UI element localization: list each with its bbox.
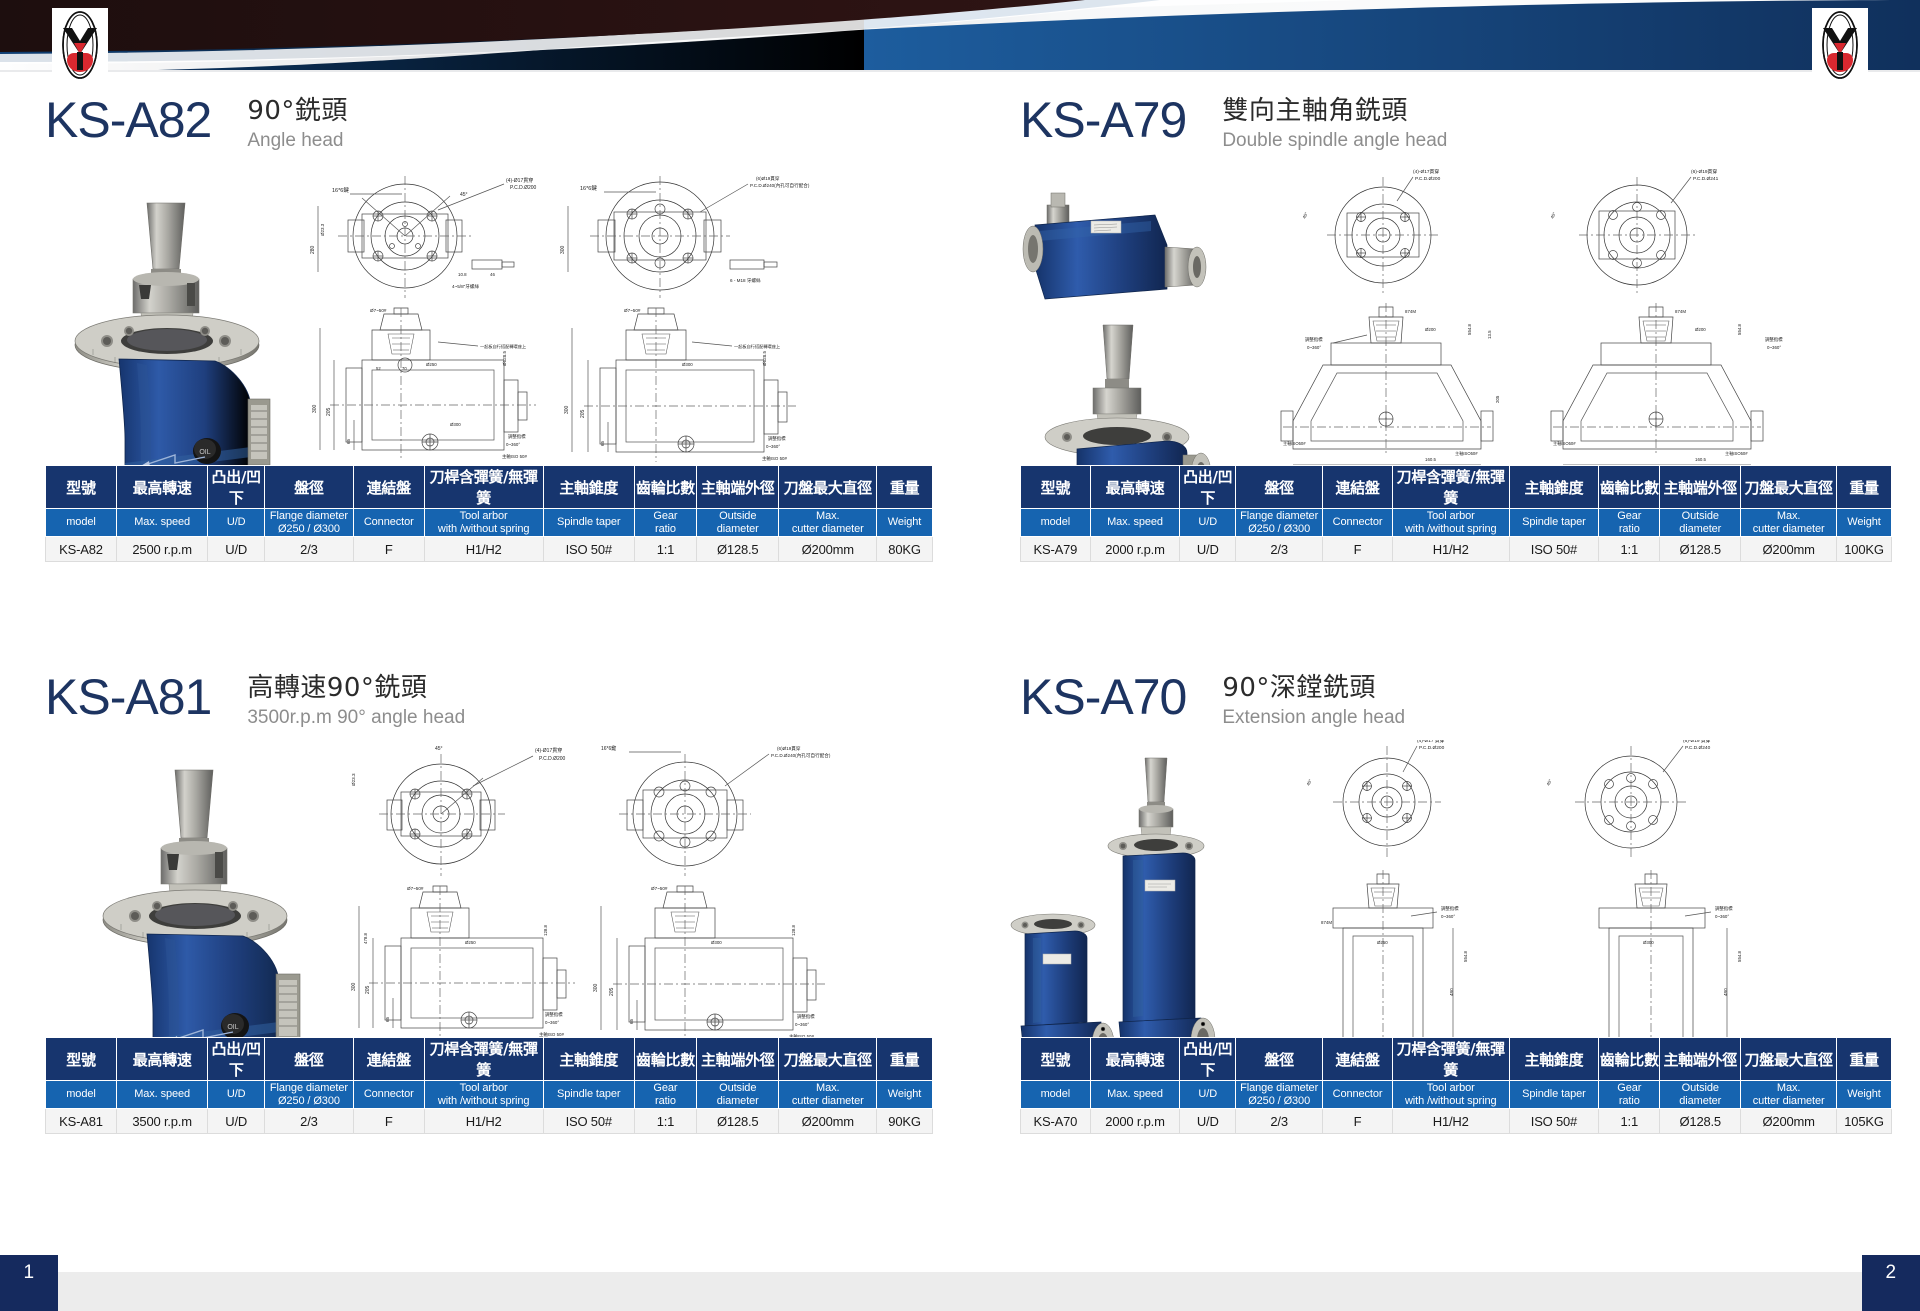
- svg-text:Ø128.5: Ø128.5: [502, 350, 507, 366]
- svg-text:(4)-Ø17貫穿: (4)-Ø17貫穿: [506, 177, 533, 184]
- cell-ud: U/D: [1180, 1109, 1236, 1134]
- table-row: KS-A82 2500 r.p.m U/D 2/3 F H1/H2 ISO 50…: [46, 537, 933, 562]
- th-zh-tool-arbor: 刀桿含彈簧/無彈簧: [1392, 1038, 1509, 1081]
- cell-outside-diameter: Ø128.5: [1660, 537, 1741, 562]
- svg-text:(4)-Ø17貫穿: (4)-Ø17貫穿: [1413, 168, 1439, 175]
- product-name-en: Extension angle head: [1222, 706, 1405, 730]
- svg-text:主軸ISO50#: 主軸ISO50#: [1725, 450, 1748, 457]
- cell-flange-diameter: 2/3: [265, 1109, 354, 1134]
- svg-text:65: 65: [600, 440, 605, 446]
- th-en-flange-diameter: Flange diameterØ250 / Ø300: [1236, 509, 1323, 537]
- svg-text:主軸ISO 50#: 主軸ISO 50#: [502, 453, 527, 460]
- svg-text:554.8: 554.8: [1737, 950, 1742, 962]
- svg-text:0~360°: 0~360°: [1715, 914, 1729, 919]
- dimension-drawing: (4)-Ø17貫穿 P.C.D.Ø200 45°: [1245, 163, 1900, 513]
- th-en-connector: Connector: [353, 1081, 424, 1109]
- svg-text:205: 205: [609, 987, 615, 996]
- svg-text:554.8: 554.8: [1463, 950, 1468, 962]
- svg-text:160.5: 160.5: [1425, 457, 1437, 462]
- svg-text:Ø300: Ø300: [682, 362, 693, 367]
- svg-text:205: 205: [580, 409, 586, 418]
- svg-text:16*6鍵: 16*6鍵: [601, 745, 616, 752]
- svg-text:主軸ISO 50#: 主軸ISO 50#: [762, 455, 787, 462]
- svg-text:45°: 45°: [1305, 778, 1313, 786]
- cell-gear-ratio: 1:1: [1599, 537, 1660, 562]
- specification-table: 型號 最高轉速 凸出/凹下 盤徑 連結盤 刀桿含彈簧/無彈簧 主軸錐度 齒輪比數…: [1020, 465, 1892, 562]
- th-zh-max-cutter-diameter: 刀盤最大直徑: [779, 466, 877, 509]
- svg-text:(6)Ø19貫穿: (6)Ø19貫穿: [756, 175, 780, 182]
- svg-text:13.5: 13.5: [1487, 330, 1492, 339]
- svg-text:主軸ISO50#: 主軸ISO50#: [1283, 440, 1306, 447]
- cell-tool-arbor: H1/H2: [1392, 537, 1509, 562]
- th-en-model: model: [1021, 1081, 1091, 1109]
- th-en-outside-diameter: Outsidediameter: [1660, 509, 1741, 537]
- product-model: KS-A82: [45, 95, 211, 145]
- th-en-ud: U/D: [208, 509, 265, 537]
- th-en-outside-diameter: Outsidediameter: [1660, 1081, 1741, 1109]
- th-zh-flange-diameter: 盤徑: [265, 1038, 354, 1081]
- th-zh-gear-ratio: 齒輪比數: [1599, 1038, 1660, 1081]
- th-en-tool-arbor: Tool arborwith /without spring: [424, 509, 543, 537]
- cell-max-cutter-diameter: Ø200mm: [1741, 1109, 1837, 1134]
- svg-text:調整指標: 調整指標: [797, 1013, 815, 1020]
- svg-text:280: 280: [310, 245, 316, 254]
- svg-text:45°: 45°: [460, 192, 468, 198]
- svg-text:65: 65: [385, 1016, 390, 1022]
- cell-spindle-taper: ISO 50#: [1509, 1109, 1599, 1134]
- cell-tool-arbor: H1/H2: [424, 537, 543, 562]
- angle-head-photo: OIL: [55, 173, 285, 503]
- svg-text:300: 300: [593, 983, 599, 992]
- th-zh-gear-ratio: 齒輪比數: [634, 1038, 696, 1081]
- th-en-connector: Connector: [1323, 1081, 1393, 1109]
- svg-text:874M: 874M: [1405, 309, 1416, 314]
- th-zh-spindle-taper: 主軸錐度: [1509, 466, 1599, 509]
- th-en-spindle-taper: Spindle taper: [543, 509, 634, 537]
- svg-text:主軸ISO50#: 主軸ISO50#: [1553, 440, 1576, 447]
- th-en-max-cutter-diameter: Max.cutter diameter: [1741, 509, 1837, 537]
- th-zh-max-speed: 最高轉速: [116, 466, 207, 509]
- svg-text:Ø300: Ø300: [1643, 940, 1654, 945]
- svg-text:0~360°: 0~360°: [1441, 914, 1455, 919]
- svg-text:Ø128.5: Ø128.5: [762, 350, 767, 366]
- table-header-en: model Max. speed U/D Flange diameterØ250…: [46, 509, 933, 537]
- th-zh-outside-diameter: 主軸端外徑: [697, 466, 779, 509]
- svg-text:Ø250: Ø250: [1377, 940, 1388, 945]
- svg-text:Ø7~50#: Ø7~50#: [407, 886, 424, 891]
- svg-text:(4)-Ø17貫穿: (4)-Ø17貫穿: [535, 747, 562, 754]
- cell-spindle-taper: ISO 50#: [543, 1109, 634, 1134]
- cell-outside-diameter: Ø128.5: [697, 537, 779, 562]
- cell-tool-arbor: H1/H2: [424, 1109, 543, 1134]
- svg-text:205: 205: [1495, 395, 1500, 403]
- product-name-en: Angle head: [247, 129, 348, 153]
- cell-max-cutter-diameter: Ø200mm: [779, 1109, 877, 1134]
- th-zh-max-speed: 最高轉速: [1090, 466, 1180, 509]
- svg-text:Ø7~50#: Ø7~50#: [651, 886, 668, 891]
- company-logo-right: [1812, 8, 1868, 82]
- svg-text:6 - M18 牙螺絲: 6 - M18 牙螺絲: [730, 277, 761, 284]
- svg-text:45°: 45°: [435, 746, 443, 752]
- svg-text:128.8: 128.8: [791, 924, 796, 936]
- svg-text:0~360°: 0~360°: [1307, 345, 1321, 350]
- svg-text:45°: 45°: [1549, 211, 1557, 219]
- th-zh-connector: 連結盤: [353, 466, 424, 509]
- svg-text:65: 65: [346, 438, 351, 444]
- cell-model: KS-A82: [46, 537, 117, 562]
- svg-text:P.C.D.Ø240(內孔可自行配合): P.C.D.Ø240(內孔可自行配合): [750, 182, 810, 189]
- footer-band: [0, 1272, 1920, 1311]
- technical-drawing-ks-a79: (4)-Ø17貫穿 P.C.D.Ø200 45°: [1245, 163, 1900, 513]
- product-model: KS-A81: [45, 672, 211, 722]
- th-en-max-speed: Max. speed: [116, 509, 207, 537]
- th-zh-gear-ratio: 齒輪比數: [1599, 466, 1660, 509]
- svg-text:205: 205: [365, 985, 371, 994]
- th-en-max-speed: Max. speed: [1090, 509, 1180, 537]
- th-zh-spindle-taper: 主軸錐度: [543, 1038, 634, 1081]
- svg-text:300: 300: [312, 404, 318, 413]
- cell-spindle-taper: ISO 50#: [1509, 537, 1599, 562]
- product-name-zh: 雙向主軸角銑頭: [1222, 97, 1447, 127]
- spec-table-ks-a79: 型號 最高轉速 凸出/凹下 盤徑 連結盤 刀桿含彈簧/無彈簧 主軸錐度 齒輪比數…: [1020, 465, 1892, 562]
- svg-text:(6)-Ø19貫穿: (6)-Ø19貫穿: [1691, 168, 1717, 175]
- svg-text:874M: 874M: [1675, 309, 1686, 314]
- svg-text:Ø23.3: Ø23.3: [351, 773, 356, 786]
- product-photo-ks-a70: [1005, 740, 1235, 1085]
- table-header-en: model Max. speed U/D Flange diameterØ250…: [1021, 509, 1892, 537]
- svg-text:P.C.D.Ø240(內孔可自行配合): P.C.D.Ø240(內孔可自行配合): [771, 752, 831, 759]
- svg-text:205: 205: [326, 407, 332, 416]
- product-photo-ks-a81: OIL: [85, 748, 315, 1078]
- table-row: KS-A70 2000 r.p.m U/D 2/3 F H1/H2 ISO 50…: [1021, 1109, 1892, 1134]
- th-en-gear-ratio: Gearratio: [634, 1081, 696, 1109]
- th-en-max-cutter-diameter: Max.cutter diameter: [779, 509, 877, 537]
- th-zh-max-cutter-diameter: 刀盤最大直徑: [1741, 1038, 1837, 1081]
- th-zh-model: 型號: [46, 466, 117, 509]
- th-en-gear-ratio: Gearratio: [1599, 509, 1660, 537]
- th-en-tool-arbor: Tool arborwith /without spring: [424, 1081, 543, 1109]
- product-names: 90°銑頭 Angle head: [247, 95, 348, 153]
- svg-text:0~360°: 0~360°: [766, 444, 780, 449]
- cell-gear-ratio: 1:1: [634, 1109, 696, 1134]
- th-en-gear-ratio: Gearratio: [1599, 1081, 1660, 1109]
- th-en-model: model: [46, 1081, 117, 1109]
- product-name-zh: 90°銑頭: [247, 97, 348, 127]
- th-en-spindle-taper: Spindle taper: [543, 1081, 634, 1109]
- page-number-left: 1: [0, 1255, 58, 1311]
- table-header-en: model Max. speed U/D Flange diameterØ250…: [46, 1081, 933, 1109]
- table-header-zh: 型號 最高轉速 凸出/凹下 盤徑 連結盤 刀桿含彈簧/無彈簧 主軸錐度 齒輪比數…: [46, 466, 933, 509]
- th-zh-flange-diameter: 盤徑: [265, 466, 354, 509]
- table-header-zh: 型號 最高轉速 凸出/凹下 盤徑 連結盤 刀桿含彈簧/無彈簧 主軸錐度 齒輪比數…: [46, 1038, 933, 1081]
- spec-table-ks-a70: 型號 最高轉速 凸出/凹下 盤徑 連結盤 刀桿含彈簧/無彈簧 主軸錐度 齒輪比數…: [1020, 1037, 1892, 1134]
- cell-outside-diameter: Ø128.5: [1660, 1109, 1741, 1134]
- cell-connector: F: [1323, 537, 1393, 562]
- th-zh-ud: 凸出/凹下: [208, 1038, 265, 1081]
- th-en-model: model: [46, 509, 117, 537]
- cell-max-cutter-diameter: Ø200mm: [1741, 537, 1837, 562]
- svg-text:Ø250: Ø250: [465, 940, 476, 945]
- svg-text:(6)-Ø19 貫穿: (6)-Ø19 貫穿: [1683, 740, 1711, 744]
- table-header-zh: 型號 最高轉速 凸出/凹下 盤徑 連結盤 刀桿含彈簧/無彈簧 主軸錐度 齒輪比數…: [1021, 466, 1892, 509]
- th-en-ud: U/D: [1180, 509, 1236, 537]
- th-zh-ud: 凸出/凹下: [208, 466, 265, 509]
- svg-text:874M: 874M: [1321, 920, 1332, 925]
- cell-outside-diameter: Ø128.5: [697, 1109, 779, 1134]
- th-en-connector: Connector: [353, 509, 424, 537]
- svg-text:0~360°: 0~360°: [1767, 345, 1781, 350]
- svg-text:0~360°: 0~360°: [545, 1020, 559, 1025]
- product-model: KS-A79: [1020, 95, 1186, 145]
- svg-text:調整指標: 調整指標: [1765, 336, 1783, 343]
- product-header: KS-A79 雙向主軸角銑頭 Double spindle angle head: [1020, 95, 1900, 153]
- cell-connector: F: [1323, 1109, 1393, 1134]
- th-zh-ud: 凸出/凹下: [1180, 466, 1236, 509]
- th-en-spindle-taper: Spindle taper: [1509, 1081, 1599, 1109]
- cell-ud: U/D: [208, 537, 265, 562]
- svg-text:P.C.D.Ø200: P.C.D.Ø200: [510, 185, 537, 191]
- product-name-zh: 90°深鏜銑頭: [1222, 674, 1405, 704]
- svg-text:16*6鍵: 16*6鍵: [580, 184, 597, 192]
- svg-text:554.8: 554.8: [1467, 323, 1472, 335]
- th-zh-connector: 連結盤: [353, 1038, 424, 1081]
- svg-text:Ø200: Ø200: [1695, 327, 1706, 332]
- th-zh-spindle-taper: 主軸錐度: [543, 466, 634, 509]
- th-zh-max-speed: 最高轉速: [116, 1038, 207, 1081]
- svg-text:Ø23.3: Ø23.3: [320, 223, 325, 236]
- svg-text:P.C.D.Ø200: P.C.D.Ø200: [539, 756, 566, 762]
- th-en-flange-diameter: Flange diameterØ250 / Ø300: [265, 509, 354, 537]
- product-name-zh: 高轉速90°銑頭: [247, 674, 465, 704]
- company-logo-left: [52, 8, 108, 82]
- product-photo-ks-a82: OIL: [55, 173, 285, 503]
- svg-text:128.8: 128.8: [543, 924, 548, 936]
- cell-flange-diameter: 2/3: [1236, 1109, 1323, 1134]
- svg-text:P.C.D.Ø241: P.C.D.Ø241: [1693, 176, 1719, 182]
- high-speed-angle-head-photo: OIL: [85, 748, 315, 1078]
- product-header: KS-A82 90°銑頭 Angle head: [45, 95, 950, 153]
- th-en-ud: U/D: [1180, 1081, 1236, 1109]
- svg-text:45°: 45°: [1545, 778, 1553, 786]
- th-zh-weight: 重量: [1837, 466, 1892, 509]
- spec-table-ks-a81: 型號 最高轉速 凸出/凹下 盤徑 連結盤 刀桿含彈簧/無彈簧 主軸錐度 齒輪比數…: [45, 1037, 933, 1134]
- th-en-spindle-taper: Spindle taper: [1509, 509, 1599, 537]
- product-name-en: Double spindle angle head: [1222, 129, 1447, 153]
- svg-text:Ø7~50#: Ø7~50#: [624, 308, 641, 313]
- th-zh-max-cutter-diameter: 刀盤最大直徑: [1741, 466, 1837, 509]
- th-zh-outside-diameter: 主軸端外徑: [1660, 466, 1741, 509]
- th-en-max-speed: Max. speed: [1090, 1081, 1180, 1109]
- cell-flange-diameter: 2/3: [1236, 537, 1323, 562]
- svg-text:(6)Ø19貫穿: (6)Ø19貫穿: [777, 745, 801, 752]
- cell-model: KS-A79: [1021, 537, 1091, 562]
- svg-text:52: 52: [376, 366, 381, 371]
- svg-text:一起板自行搭配轉環座上: 一起板自行搭配轉環座上: [480, 343, 526, 350]
- product-photo-ks-a79: [1005, 163, 1235, 508]
- cell-max-speed: 2000 r.p.m: [1090, 1109, 1180, 1134]
- svg-text:OIL: OIL: [199, 449, 210, 456]
- th-zh-weight: 重量: [877, 466, 933, 509]
- specification-table: 型號 最高轉速 凸出/凹下 盤徑 連結盤 刀桿含彈簧/無彈簧 主軸錐度 齒輪比數…: [45, 1037, 933, 1134]
- svg-text:554.8: 554.8: [1737, 323, 1742, 335]
- th-zh-max-cutter-diameter: 刀盤最大直徑: [779, 1038, 877, 1081]
- cell-connector: F: [353, 1109, 424, 1134]
- svg-text:300: 300: [564, 405, 570, 414]
- th-zh-flange-diameter: 盤徑: [1236, 1038, 1323, 1081]
- th-en-flange-diameter: Flange diameterØ250 / Ø300: [1236, 1081, 1323, 1109]
- product-section-ks-a81: KS-A81 高轉速90°銑頭 3500r.p.m 90° angle head: [45, 672, 950, 1095]
- th-en-ud: U/D: [208, 1081, 265, 1109]
- svg-text:Ø300: Ø300: [450, 422, 461, 427]
- th-zh-gear-ratio: 齒輪比數: [634, 466, 696, 509]
- th-en-gear-ratio: Gearratio: [634, 509, 696, 537]
- th-en-weight: Weight: [1837, 509, 1892, 537]
- th-en-tool-arbor: Tool arborwith /without spring: [1392, 1081, 1509, 1109]
- banner-graphic: [0, 0, 1920, 72]
- cell-max-speed: 2000 r.p.m: [1090, 537, 1180, 562]
- svg-text:P.C.D.Ø240: P.C.D.Ø240: [1685, 745, 1711, 751]
- th-zh-outside-diameter: 主軸端外徑: [697, 1038, 779, 1081]
- svg-text:10.8: 10.8: [458, 272, 467, 277]
- svg-text:P.C.D.Ø200: P.C.D.Ø200: [1415, 176, 1441, 182]
- cell-connector: F: [353, 537, 424, 562]
- th-zh-tool-arbor: 刀桿含彈簧/無彈簧: [1392, 466, 1509, 509]
- th-en-outside-diameter: Outsidediameter: [697, 1081, 779, 1109]
- th-zh-flange-diameter: 盤徑: [1236, 466, 1323, 509]
- cell-weight: 90KG: [877, 1109, 933, 1134]
- th-zh-weight: 重量: [877, 1038, 933, 1081]
- svg-text:45°: 45°: [1301, 211, 1309, 219]
- svg-text:調整指標: 調整指標: [1441, 905, 1459, 912]
- product-section-ks-a70: KS-A70 90°深鏜銑頭 Extension angle head: [1020, 672, 1900, 1095]
- th-zh-connector: 連結盤: [1323, 466, 1393, 509]
- product-name-en: 3500r.p.m 90° angle head: [247, 706, 465, 730]
- cell-gear-ratio: 1:1: [634, 537, 696, 562]
- cell-weight: 105KG: [1837, 1109, 1892, 1134]
- product-header: KS-A81 高轉速90°銑頭 3500r.p.m 90° angle head: [45, 672, 950, 730]
- product-model: KS-A70: [1020, 672, 1186, 722]
- cell-model: KS-A70: [1021, 1109, 1091, 1134]
- th-zh-max-speed: 最高轉速: [1090, 1038, 1180, 1081]
- double-spindle-head-photo: [1005, 163, 1235, 508]
- cell-weight: 100KG: [1837, 537, 1892, 562]
- svg-text:160.5: 160.5: [1695, 457, 1707, 462]
- catalog-page: KS-A82 90°銑頭 Angle head: [0, 0, 1920, 1311]
- svg-text:Ø300: Ø300: [711, 940, 722, 945]
- th-zh-model: 型號: [1021, 1038, 1091, 1081]
- product-names: 高轉速90°銑頭 3500r.p.m 90° angle head: [247, 672, 465, 730]
- page-number-right: 2: [1862, 1255, 1920, 1311]
- svg-text:調整指標: 調整指標: [508, 433, 526, 440]
- svg-text:調整指標: 調整指標: [1305, 336, 1323, 343]
- table-row: KS-A81 3500 r.p.m U/D 2/3 F H1/H2 ISO 50…: [46, 1109, 933, 1134]
- svg-text:Ø250: Ø250: [426, 362, 437, 367]
- th-zh-model: 型號: [1021, 466, 1091, 509]
- svg-text:(4)-Ø17 貫穿: (4)-Ø17 貫穿: [1417, 740, 1445, 744]
- svg-text:0~360°: 0~360°: [506, 442, 520, 447]
- spec-table-ks-a82: 型號 最高轉速 凸出/凹下 盤徑 連結盤 刀桿含彈簧/無彈簧 主軸錐度 齒輪比數…: [45, 465, 933, 562]
- svg-text:70: 70: [402, 366, 407, 371]
- svg-text:OIL: OIL: [227, 1024, 238, 1031]
- cell-flange-diameter: 2/3: [265, 537, 354, 562]
- svg-text:主軸ISO50#: 主軸ISO50#: [1455, 450, 1478, 457]
- product-names: 雙向主軸角銑頭 Double spindle angle head: [1222, 95, 1447, 153]
- cell-tool-arbor: H1/H2: [1392, 1109, 1509, 1134]
- header-banner: [0, 0, 1920, 72]
- th-zh-ud: 凸出/凹下: [1180, 1038, 1236, 1081]
- svg-text:16*6鍵: 16*6鍵: [332, 186, 349, 194]
- cell-max-speed: 2500 r.p.m: [116, 537, 207, 562]
- th-en-tool-arbor: Tool arborwith /without spring: [1392, 509, 1509, 537]
- svg-text:65: 65: [629, 1018, 634, 1024]
- th-en-connector: Connector: [1323, 509, 1393, 537]
- th-en-weight: Weight: [877, 509, 933, 537]
- th-en-outside-diameter: Outsidediameter: [697, 509, 779, 537]
- cell-weight: 80KG: [877, 537, 933, 562]
- th-zh-weight: 重量: [1837, 1038, 1892, 1081]
- th-zh-model: 型號: [46, 1038, 117, 1081]
- th-en-max-speed: Max. speed: [116, 1081, 207, 1109]
- svg-text:P.C.D.Ø200: P.C.D.Ø200: [1419, 745, 1445, 751]
- table-row: KS-A79 2000 r.p.m U/D 2/3 F H1/H2 ISO 50…: [1021, 537, 1892, 562]
- footer-white-strip: [0, 1255, 1920, 1272]
- cell-gear-ratio: 1:1: [1599, 1109, 1660, 1134]
- svg-text:300: 300: [351, 982, 357, 991]
- th-en-weight: Weight: [1837, 1081, 1892, 1109]
- table-header-en: model Max. speed U/D Flange diameterØ250…: [1021, 1081, 1892, 1109]
- svg-text:Ø7~50#: Ø7~50#: [370, 308, 387, 313]
- cell-model: KS-A81: [46, 1109, 117, 1134]
- th-zh-spindle-taper: 主軸錐度: [1509, 1038, 1599, 1081]
- svg-text:478.8: 478.8: [363, 932, 368, 944]
- svg-text:調整指標: 調整指標: [545, 1011, 563, 1018]
- logo-icon: [54, 10, 106, 80]
- th-en-max-cutter-diameter: Max.cutter diameter: [1741, 1081, 1837, 1109]
- cell-max-speed: 3500 r.p.m: [116, 1109, 207, 1134]
- specification-table: 型號 最高轉速 凸出/凹下 盤徑 連結盤 刀桿含彈簧/無彈簧 主軸錐度 齒輪比數…: [45, 465, 933, 562]
- th-zh-connector: 連結盤: [1323, 1038, 1393, 1081]
- svg-text:調整指標: 調整指標: [768, 435, 786, 442]
- th-zh-outside-diameter: 主軸端外徑: [1660, 1038, 1741, 1081]
- th-en-weight: Weight: [877, 1081, 933, 1109]
- product-names: 90°深鏜銑頭 Extension angle head: [1222, 672, 1405, 730]
- product-section-ks-a79: KS-A79 雙向主軸角銑頭 Double spindle angle head: [1020, 95, 1900, 523]
- svg-text:0~360°: 0~360°: [795, 1022, 809, 1027]
- cell-ud: U/D: [208, 1109, 265, 1134]
- extension-angle-head-photo: [1005, 740, 1235, 1085]
- th-en-max-cutter-diameter: Max.cutter diameter: [779, 1081, 877, 1109]
- specification-table: 型號 最高轉速 凸出/凹下 盤徑 連結盤 刀桿含彈簧/無彈簧 主軸錐度 齒輪比數…: [1020, 1037, 1892, 1134]
- product-header: KS-A70 90°深鏜銑頭 Extension angle head: [1020, 672, 1900, 730]
- svg-text:調整指標: 調整指標: [1715, 905, 1733, 912]
- cell-spindle-taper: ISO 50#: [543, 537, 634, 562]
- svg-text:46: 46: [490, 272, 495, 277]
- th-en-flange-diameter: Flange diameterØ250 / Ø300: [265, 1081, 354, 1109]
- th-en-model: model: [1021, 509, 1091, 537]
- svg-text:300: 300: [560, 245, 566, 254]
- th-zh-tool-arbor: 刀桿含彈簧/無彈簧: [424, 1038, 543, 1081]
- cell-ud: U/D: [1180, 537, 1236, 562]
- cell-max-cutter-diameter: Ø200mm: [779, 537, 877, 562]
- logo-icon: [1814, 10, 1866, 80]
- svg-text:Ø200: Ø200: [1425, 327, 1436, 332]
- product-section-ks-a82: KS-A82 90°銑頭 Angle head: [45, 95, 950, 523]
- th-zh-tool-arbor: 刀桿含彈簧/無彈簧: [424, 466, 543, 509]
- svg-text:4~5/8"牙螺絲: 4~5/8"牙螺絲: [452, 283, 479, 290]
- table-header-zh: 型號 最高轉速 凸出/凹下 盤徑 連結盤 刀桿含彈簧/無彈簧 主軸錐度 齒輪比數…: [1021, 1038, 1892, 1081]
- svg-text:一起板自行搭配轉環座上: 一起板自行搭配轉環座上: [734, 343, 780, 350]
